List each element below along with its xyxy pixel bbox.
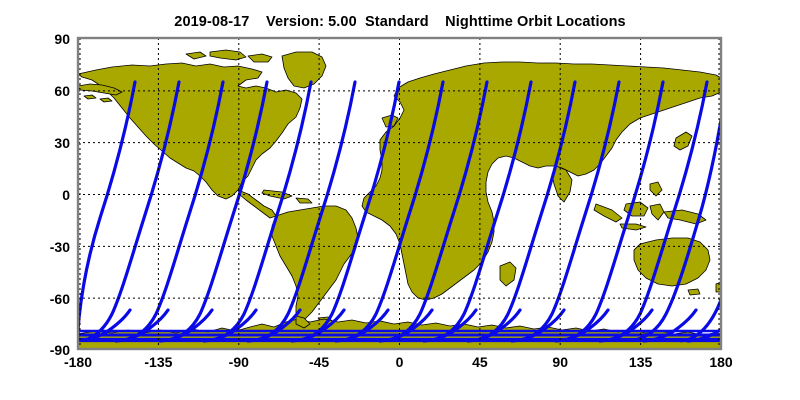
- x-axis-tick-labels: -180 -135 -90 -45 0 45 90 135 180: [64, 354, 733, 370]
- y-tick-label: 90: [54, 31, 70, 47]
- x-tick-label: -90: [229, 354, 249, 370]
- plot-area: 90 60 30 0 -30 -60 -90 -180 -135 -90 -45…: [0, 0, 800, 400]
- x-tick-label: 180: [709, 354, 733, 370]
- land-tasmania: [688, 289, 700, 295]
- x-tick-label: 0: [396, 354, 404, 370]
- x-tick-label: -45: [309, 354, 329, 370]
- x-tick-label: 45: [472, 354, 488, 370]
- y-tick-label: 0: [62, 187, 70, 203]
- y-tick-label: 30: [54, 135, 70, 151]
- y-axis-tick-labels: 90 60 30 0 -30 -60 -90: [50, 31, 70, 358]
- orbit-map-figure: 2019-08-17 Version: 5.00 Standard Nightt…: [0, 0, 800, 400]
- y-tick-label: -60: [50, 291, 70, 307]
- y-tick-label: 60: [54, 83, 70, 99]
- x-tick-label: -180: [64, 354, 92, 370]
- x-tick-label: -135: [144, 354, 172, 370]
- x-tick-label: 135: [629, 354, 653, 370]
- x-tick-label: 90: [552, 354, 568, 370]
- y-tick-label: -30: [50, 239, 70, 255]
